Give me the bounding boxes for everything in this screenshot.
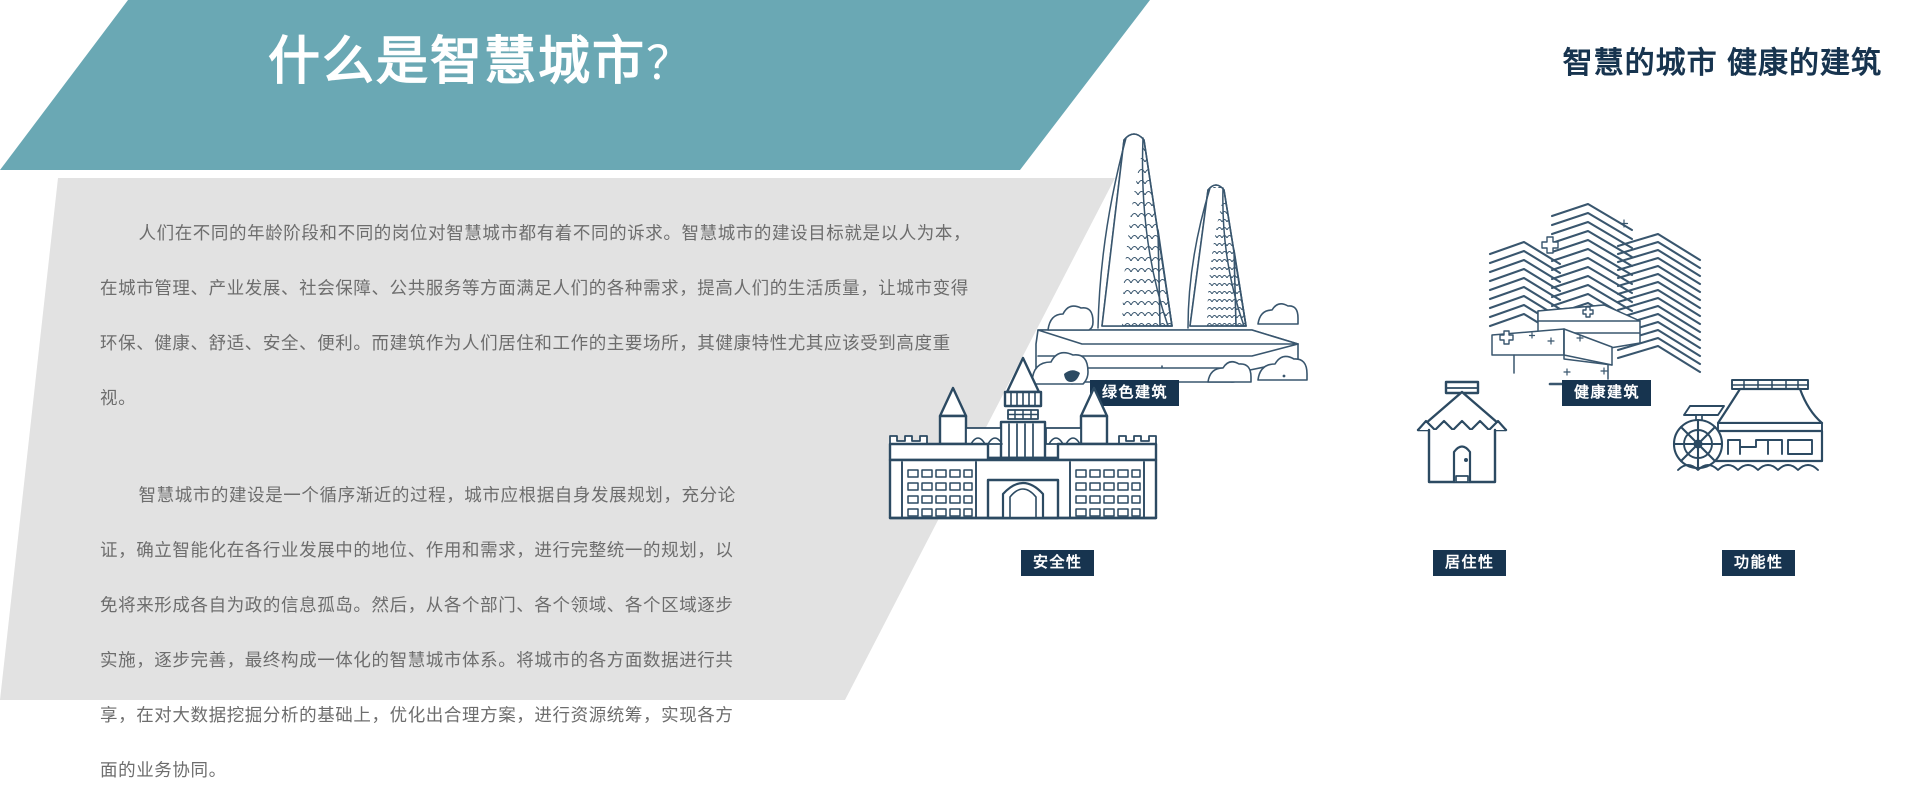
house-illustration [1402, 372, 1522, 492]
badge-functionality: 功能性 [1722, 550, 1795, 576]
body-paragraph-1: 人们在不同的年龄阶段和不同的岗位对智慧城市都有着不同的诉求。智慧城市的建设目标就… [100, 178, 980, 426]
illustration-area: 绿色建筑 [1000, 110, 1920, 670]
body-paragraph-2: 智慧城市的建设是一个循序渐近的过程，城市应根据自身发展规划，充分论证，确立智能化… [100, 426, 740, 798]
health-building-illustration [1468, 192, 1738, 392]
badge-safety: 安全性 [1021, 550, 1094, 576]
badge-livability: 居住性 [1433, 550, 1506, 576]
badge-health-building: 健康建筑 [1562, 380, 1651, 406]
pavilion-illustration [1666, 372, 1826, 482]
page-title-question-mark: ？ [646, 37, 694, 89]
castle-illustration [858, 352, 1188, 532]
headline: 智慧的城市 健康的建筑 [1563, 38, 1882, 82]
body-text-block: 人们在不同的年龄阶段和不同的岗位对智慧城市都有着不同的诉求。智慧城市的建设目标就… [100, 178, 980, 798]
green-building-illustration [1012, 118, 1312, 388]
page-title-text: 什么是智慧城市 [268, 33, 646, 91]
page-title: 什么是智慧城市？ [268, 36, 694, 88]
